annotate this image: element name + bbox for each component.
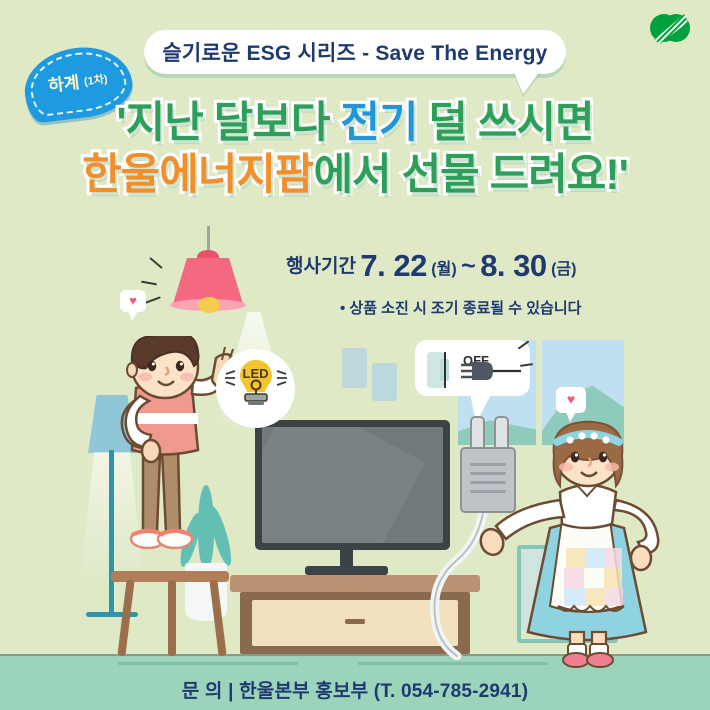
contact-info: 문 의 | 한울본부 홍보부 (T. 054-785-2941) [0,676,710,703]
event-period: 행사기간 7. 22 (월) ~ 8. 30 (금) [286,248,686,284]
event-date-separator: ~ [461,252,476,280]
khnp-logo [648,10,692,46]
woman-character [478,420,688,668]
event-note: • 상품 소진 시 조기 종료될 수 있습니다 [340,297,581,318]
headline-l2-part1: 한울에너지팜 [82,151,313,199]
headline-l1-part2: 전기 [340,99,417,147]
badge-main-text: 하계 [47,73,80,96]
badge-sub-text: (1차) [83,73,108,88]
headline-l2-part2: 에서 선물 드려요!' [314,151,628,199]
event-end-date: 8. 30 [480,248,546,283]
series-banner-tail [513,70,541,94]
heart-icon-right: ♥ [556,391,586,407]
tv-cabinet-handle [345,619,365,624]
television-stand-base [305,566,388,575]
series-banner: 슬기로운 ESG 시리즈 - Save The Energy [144,30,566,74]
heart-icon-left: ♥ [120,293,146,309]
event-end-day: (금) [551,261,576,278]
led-spark-left [224,370,236,388]
headline-l1-part1: '지난 달보다 [116,99,340,147]
wall-frame-1 [342,348,367,388]
floor-shadow-left [118,662,298,665]
led-spark-right [276,370,288,388]
pendant-lamp-bulb [198,297,220,313]
stool-leg-mid [168,580,176,656]
poster-root: 하계 (1차) 슬기로운 ESG 시리즈 - Save The Energy '… [0,0,710,710]
unplugged-plug-icon [460,358,522,384]
wall-frame-2 [372,363,397,401]
headline-line-1: '지난 달보다 전기 덜 쓰시면 [0,100,710,146]
series-banner-text: 슬기로운 ESG 시리즈 - Save The Energy [162,37,547,67]
headline-l1-part3: 덜 쓰시면 [417,99,593,147]
headline: '지난 달보다 전기 덜 쓰시면 한울에너지팜에서 선물 드려요!' [0,100,710,199]
heart-bubble-left-tail [128,311,138,321]
headline-line-2: 한울에너지팜에서 선물 드려요!' [0,152,710,198]
event-period-label: 행사기간 [286,256,356,277]
event-start-date: 7. 22 [360,248,426,283]
outlet-icon [426,350,454,390]
heart-bubble-left: ♥ [120,290,146,312]
event-start-day: (월) [431,261,456,278]
heart-bubble-right: ♥ [556,387,586,413]
